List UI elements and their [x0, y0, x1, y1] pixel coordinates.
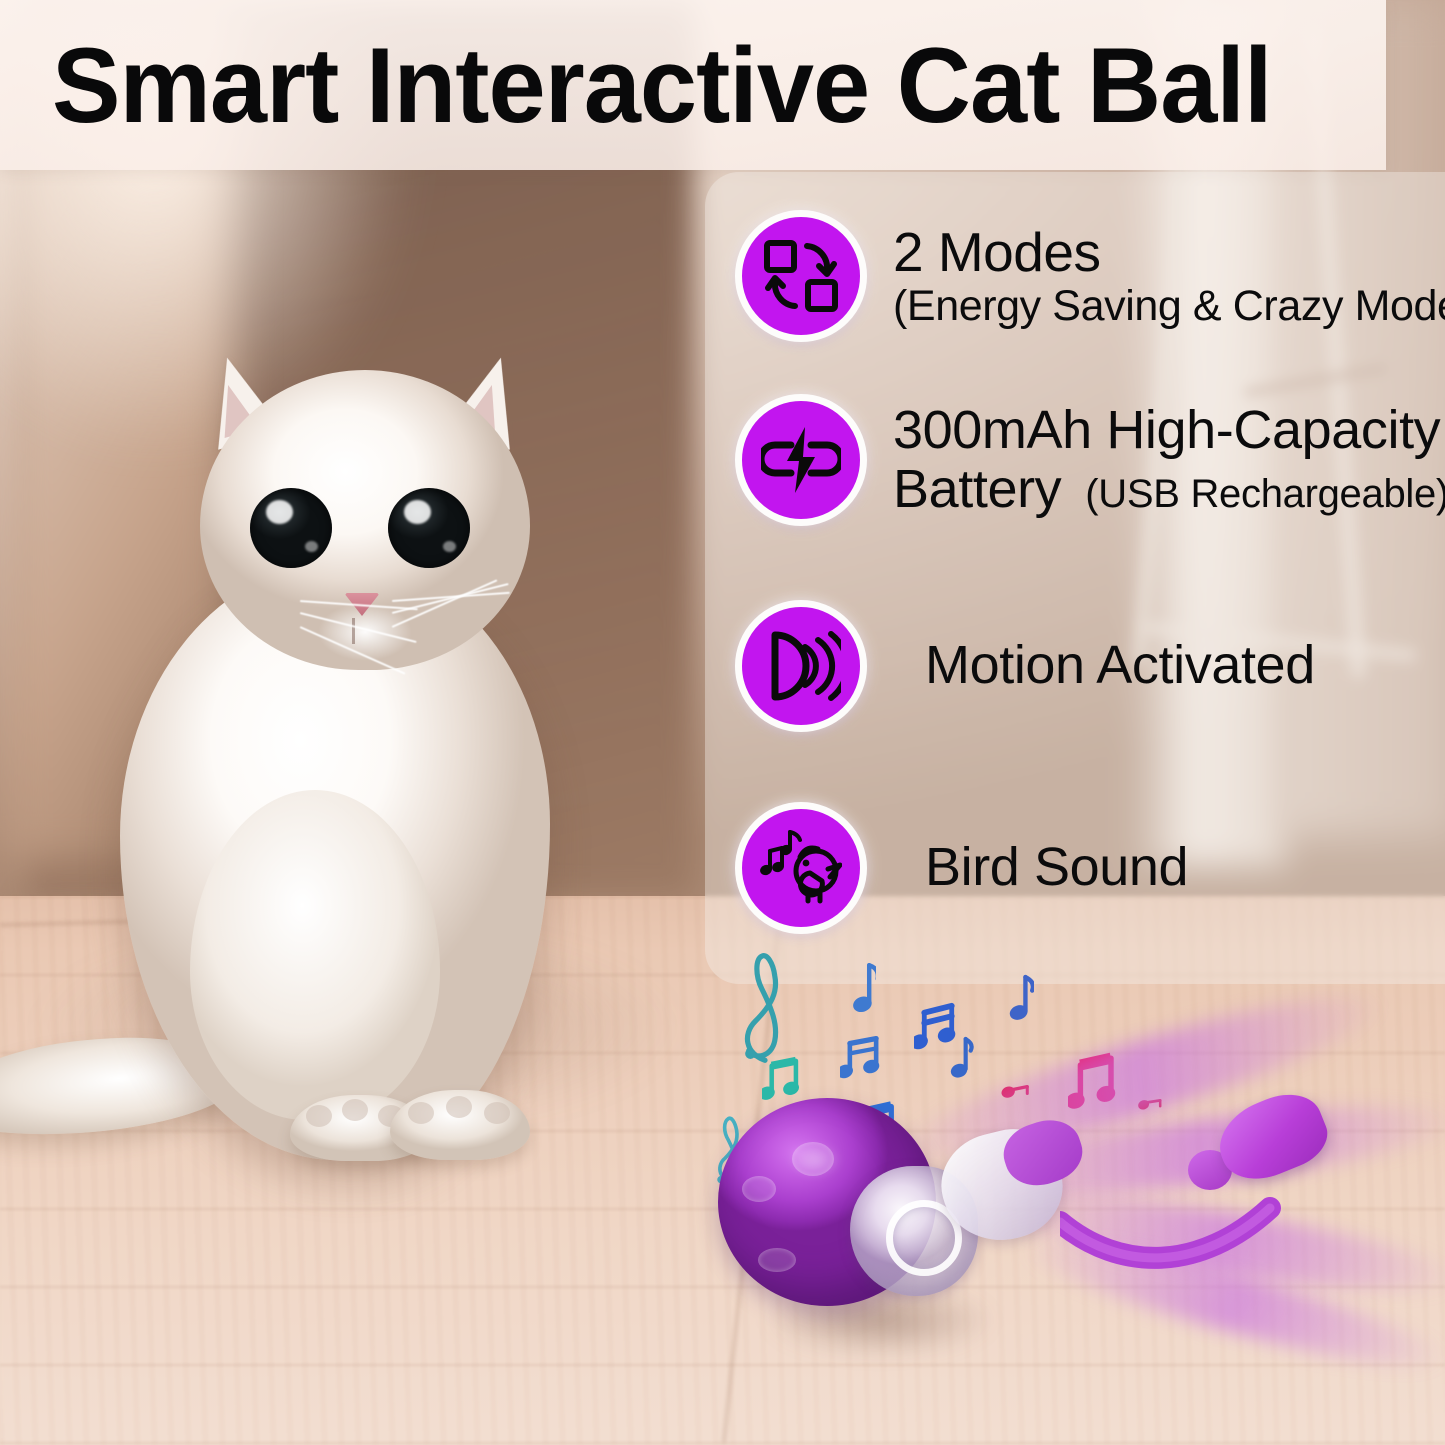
feature-row-bird: Bird Sound	[735, 802, 1188, 934]
swap-modes-icon	[735, 210, 867, 342]
motion-sensor-icon	[735, 600, 867, 732]
feature-label-modes: 2 Modes	[893, 224, 1445, 280]
cat-photo-subject	[0, 350, 640, 1230]
battery-charging-icon	[735, 394, 867, 526]
page-title: Smart Interactive Cat Ball	[52, 32, 1272, 139]
feature-text-battery: 300mAh High-Capacity Battery (USB Rechar…	[893, 403, 1445, 517]
feature-label-bird: Bird Sound	[925, 840, 1188, 895]
feature-row-modes: 2 Modes (Energy Saving & Crazy Mode)	[735, 210, 1445, 342]
cat-paw-right	[390, 1090, 530, 1160]
music-note-eighth	[842, 960, 876, 1018]
product-infographic: Smart Interactive Cat Ball 2 Modes (Ener…	[0, 0, 1445, 1445]
feature-label-battery: 300mAh High-Capacity	[893, 403, 1445, 458]
music-note-eighth	[944, 1034, 974, 1084]
ball-emboss-1	[742, 1176, 776, 1202]
feature-panel: 2 Modes (Energy Saving & Crazy Mode) 300…	[705, 172, 1445, 984]
feature-text-bird: Bird Sound	[925, 840, 1188, 895]
music-note-eighth	[1000, 972, 1034, 1026]
feature-text-modes: 2 Modes (Energy Saving & Crazy Mode)	[893, 224, 1445, 329]
ball-emboss-2	[792, 1142, 834, 1176]
feature-note-battery: (USB Rechargeable)	[1085, 474, 1445, 515]
music-note-beamed	[840, 1026, 886, 1084]
cat-eye-right	[388, 488, 470, 568]
bird-sound-icon	[735, 802, 867, 934]
feature-label-battery-line2: Battery	[893, 462, 1061, 517]
feature-text-motion: Motion Activated	[925, 638, 1315, 693]
feature-row-motion: Motion Activated	[735, 600, 1315, 732]
cat-ball-product	[690, 1080, 1445, 1410]
ball-emboss-3	[758, 1248, 796, 1272]
feature-label-motion: Motion Activated	[925, 638, 1315, 693]
feature-sublabel-modes: (Energy Saving & Crazy Mode)	[893, 285, 1445, 329]
cat-eye-left	[250, 488, 332, 568]
title-banner: Smart Interactive Cat Ball	[0, 0, 1386, 170]
feature-row-battery: 300mAh High-Capacity Battery (USB Rechar…	[735, 394, 1445, 526]
